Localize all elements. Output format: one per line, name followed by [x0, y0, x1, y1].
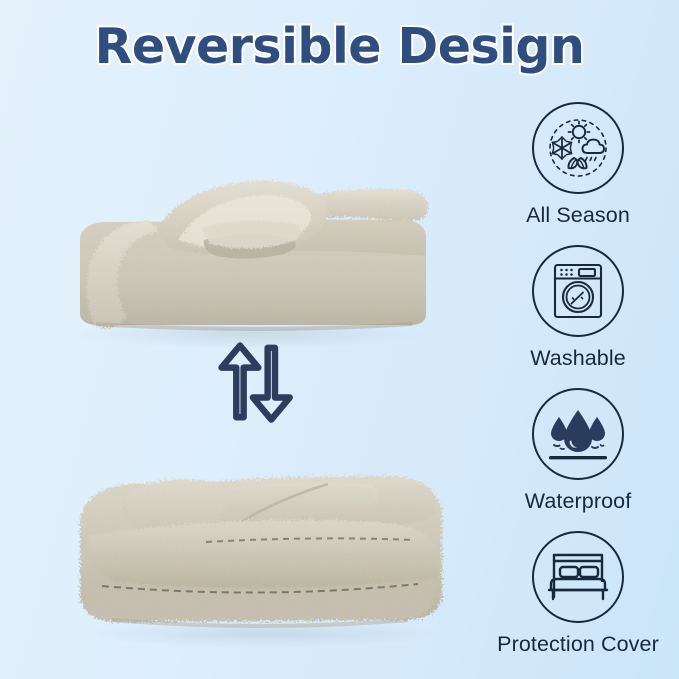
bottom-blanket-photo: [62, 418, 462, 650]
right-drop: [589, 417, 605, 441]
surface-bar: [549, 456, 607, 459]
feature-washable[interactable]: Washable: [485, 245, 671, 371]
washable-badge-circle: [532, 245, 624, 337]
feature-label-all-season: All Season: [526, 203, 630, 228]
feature-label-waterproof: Waterproof: [525, 489, 632, 514]
feature-label-washable: Washable: [530, 346, 626, 371]
feature-protection-cover[interactable]: Protection Cover: [485, 531, 671, 657]
feature-waterproof[interactable]: Waterproof: [485, 388, 671, 514]
title-container: Reversible Design: [0, 18, 679, 75]
washing-machine-icon: [545, 258, 611, 324]
page-title: Reversible Design: [95, 18, 585, 75]
up-down-reverse-arrows: [213, 342, 297, 428]
product-feature-poster: Reversible Design: [0, 0, 679, 679]
reverse-arrows-illustration: [213, 342, 297, 428]
top-blanket-photo: [52, 128, 452, 350]
all-season-badge-circle: [532, 102, 624, 194]
feature-list: All Season: [485, 102, 671, 657]
feature-all-season[interactable]: All Season: [485, 102, 671, 228]
water-drops-icon: [544, 400, 612, 468]
bottom-blanket-illustration: [62, 418, 462, 650]
all-season-icon: [543, 113, 613, 183]
left-drop: [551, 417, 567, 441]
protection-cover-badge-circle: [532, 531, 624, 623]
feature-label-protection-cover: Protection Cover: [497, 632, 659, 657]
flip-down-arrow: [253, 348, 290, 420]
waterproof-badge-circle: [532, 388, 624, 480]
top-blanket-illustration: [52, 128, 452, 350]
flip-up-arrow: [222, 346, 259, 418]
large-drop: [564, 410, 592, 452]
bed-icon: [545, 547, 611, 607]
